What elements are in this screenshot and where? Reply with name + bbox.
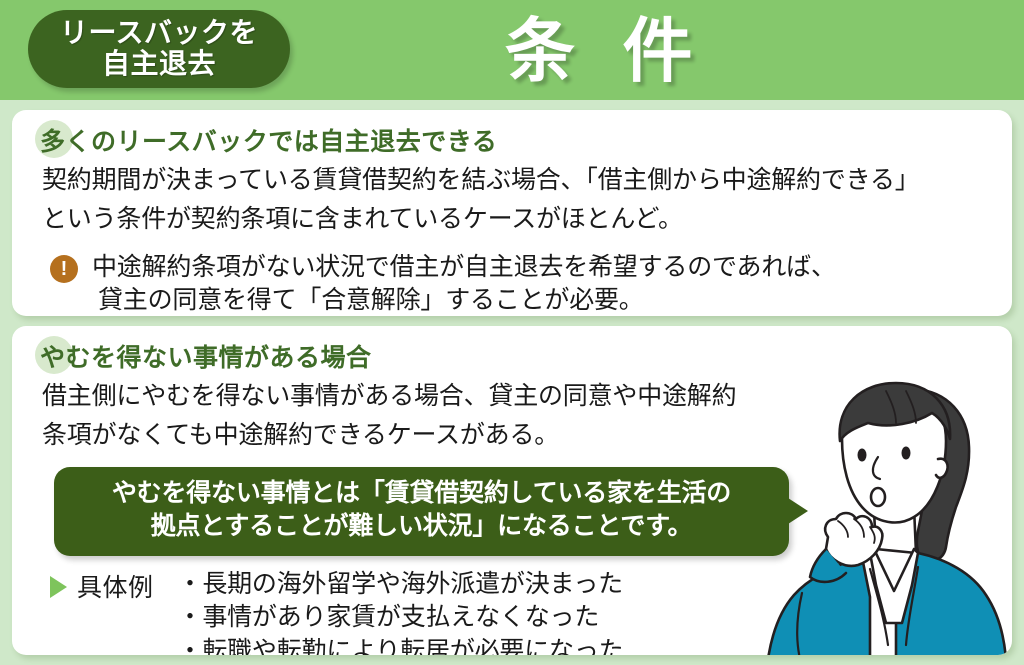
exclamation-icon: !	[50, 255, 78, 283]
triangle-marker-icon	[50, 576, 67, 598]
examples-section: 具体例 長期の海外留学や海外派遣が決まった 事情があり家賃が支払えなくなった 転…	[12, 556, 1012, 656]
definition-bubble: やむを得ない事情とは「賃貸借契約している家を生活の 拠点とすることが難しい状況」…	[54, 467, 789, 556]
badge-line-1: リースバックを	[60, 18, 258, 49]
card-self-move-out: 多くのリースバックでは自主退去できる 契約期間が決まっている賃貸借契約を結ぶ場合…	[12, 110, 1012, 316]
note-line-1: 中途解約条項がない状況で借主が自主退去を希望するのであれば、	[92, 251, 836, 284]
card-two-body-line-1: 借主側にやむを得ない事情がある場合、貸主の同意や中途解約	[12, 374, 1012, 413]
card-two-body-line-2: 条項がなくても中途解約できるケースがある。	[12, 413, 1012, 452]
header-category-badge: リースバックを 自主退去	[28, 10, 290, 88]
bubble-line-1: やむを得ない事情とは「賃貸借契約している家を生活の	[72, 477, 771, 510]
card-two-heading-text: やむを得ない事情がある場合	[40, 344, 372, 372]
definition-callout: やむを得ない事情とは「賃貸借契約している家を生活の 拠点とすることが難しい状況」…	[54, 467, 789, 556]
bubble-tail	[788, 498, 808, 524]
examples-label: 具体例	[67, 568, 154, 604]
list-item: 事情があり家賃が支払えなくなった	[178, 601, 624, 635]
card-two-heading: やむを得ない事情がある場合	[12, 326, 1012, 374]
card-one-note: ! 中途解約条項がない状況で借主が自主退去を希望するのであれば、 貸主の同意を得…	[12, 237, 1012, 317]
examples-list: 長期の海外留学や海外派遣が決まった 事情があり家賃が支払えなくなった 転職や転勤…	[154, 568, 624, 656]
list-item: 転職や転勤により転居が必要になった	[178, 635, 624, 656]
card-one-heading-text: 多くのリースバックでは自主退去できる	[40, 128, 497, 156]
note-line-2: 貸主の同意を得て「合意解除」することが必要。	[92, 284, 836, 317]
card-unavoidable-circumstances: やむを得ない事情がある場合 借主側にやむを得ない事情がある場合、貸主の同意や中途…	[12, 326, 1012, 655]
card-one-body-line-1: 契約期間が決まっている賃貸借契約を結ぶ場合、「借主側から中途解約できる」	[12, 158, 1012, 197]
card-one-note-body: 中途解約条項がない状況で借主が自主退去を希望するのであれば、 貸主の同意を得て「…	[78, 251, 836, 317]
badge-line-2: 自主退去	[102, 49, 216, 80]
card-one-heading: 多くのリースバックでは自主退去できる	[12, 110, 1012, 158]
card-one-body-line-2: という条件が契約条項に含まれているケースがほとんど。	[12, 197, 1012, 236]
bubble-line-2: 拠点とすることが難しい状況」になることです。	[72, 510, 771, 543]
page-header: リースバックを 自主退去 条 件	[0, 0, 1024, 100]
list-item: 長期の海外留学や海外派遣が決まった	[178, 568, 624, 602]
page-title: 条 件	[505, 4, 706, 98]
